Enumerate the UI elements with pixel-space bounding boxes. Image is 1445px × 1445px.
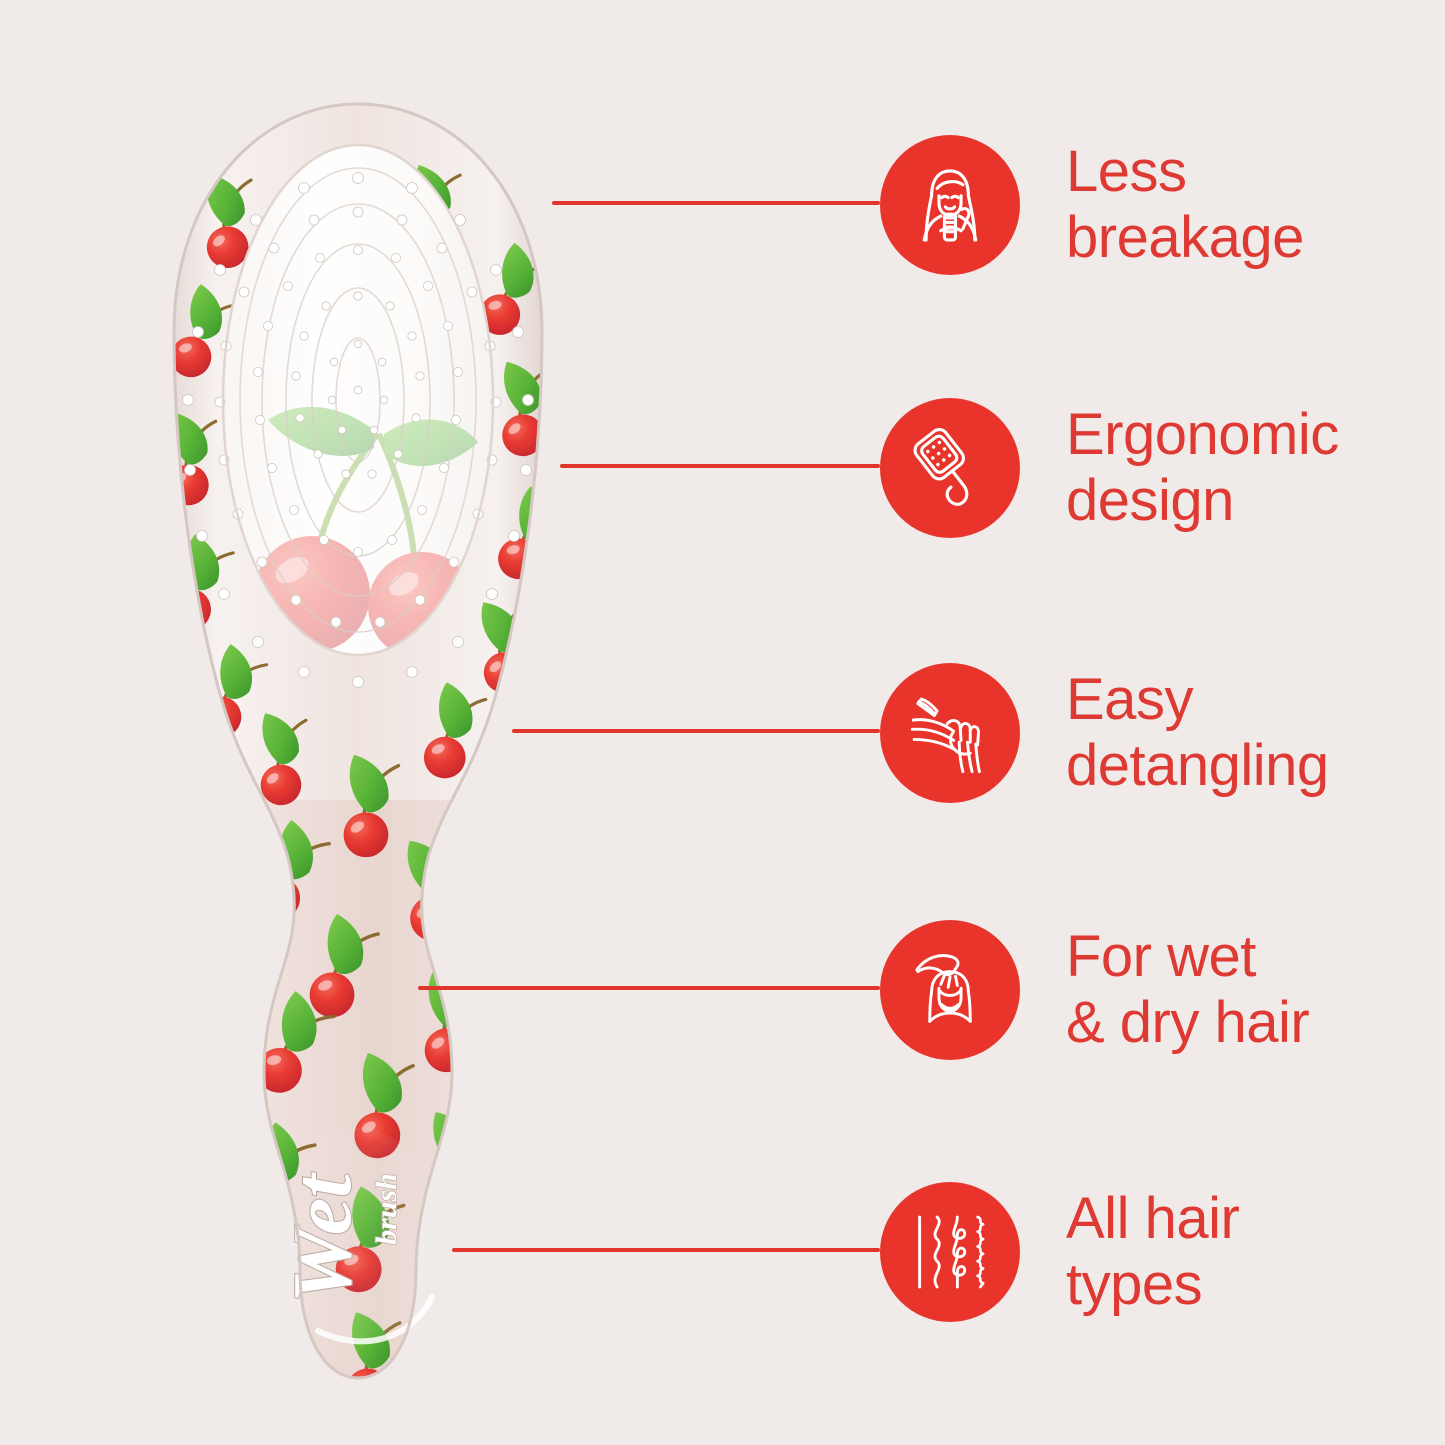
woman-brushing-hair-icon — [904, 159, 996, 251]
feature-item-less-breakage[interactable]: Less breakage — [880, 135, 1304, 275]
feature-item-easy-detangling[interactable]: Easy detangling — [880, 663, 1329, 803]
connector-line-5 — [452, 1248, 880, 1252]
infographic-canvas: Wet brush — [0, 0, 1445, 1445]
connector-line-2 — [560, 464, 880, 468]
showerhead-over-woman-icon — [904, 944, 996, 1036]
feature-badge-easy-detangling — [880, 663, 1020, 803]
feature-item-ergonomic-design[interactable]: Ergonomic design — [880, 398, 1339, 538]
feature-label-easy-detangling: Easy detangling — [1066, 667, 1329, 798]
connector-line-3 — [512, 729, 880, 733]
feature-label-ergonomic-design: Ergonomic design — [1066, 402, 1339, 533]
feature-badge-all-hair-types — [880, 1182, 1020, 1322]
connector-line-4 — [418, 986, 880, 990]
hand-holding-hair-icon — [904, 687, 996, 779]
svg-text:brush: brush — [370, 1173, 403, 1245]
feature-badge-less-breakage — [880, 135, 1020, 275]
feature-badge-ergonomic-design — [880, 398, 1020, 538]
connector-line-1 — [552, 201, 880, 205]
feature-badge-for-wet-and-dry-hair — [880, 920, 1020, 1060]
paddle-brush-icon — [904, 422, 996, 514]
feature-label-less-breakage: Less breakage — [1066, 139, 1304, 270]
feature-label-for-wet-and-dry-hair: For wet & dry hair — [1066, 924, 1309, 1055]
feature-label-all-hair-types: All hair types — [1066, 1186, 1239, 1317]
product-image-wet-brush: Wet brush — [128, 100, 588, 1385]
hair-texture-types-icon — [904, 1206, 996, 1298]
feature-item-for-wet-and-dry-hair[interactable]: For wet & dry hair — [880, 920, 1309, 1060]
feature-item-all-hair-types[interactable]: All hair types — [880, 1182, 1239, 1322]
